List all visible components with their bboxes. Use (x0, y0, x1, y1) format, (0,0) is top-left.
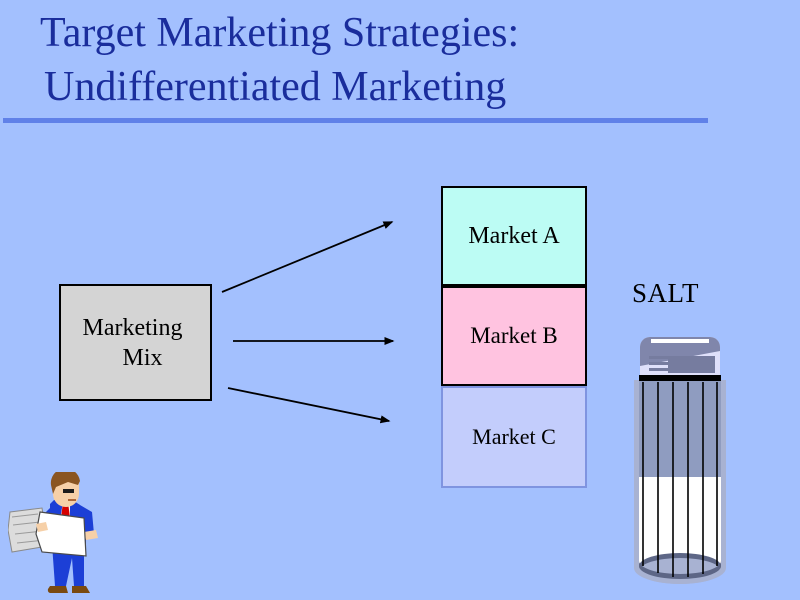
market-box-b: Market B (441, 286, 587, 386)
man-left-shoe (48, 586, 68, 593)
salt-shaker-icon (620, 325, 740, 590)
title-line-1: Target Marketing Strategies: (40, 6, 740, 60)
title-line-2: Undifferentiated Marketing (40, 60, 740, 114)
marketing-mix-box: Marketing Mix (59, 284, 212, 401)
marketing-mix-label-line-2: Mix (108, 343, 162, 373)
market-b-label: Market B (470, 323, 558, 349)
man-glasses (63, 489, 74, 493)
market-a-label: Market A (468, 223, 559, 250)
shaker-cap-stripes (649, 356, 715, 373)
shaker-cap-highlight (651, 339, 709, 343)
man-mouth (68, 499, 76, 501)
arrow-to-market-a (222, 222, 392, 292)
marketing-mix-label-line-1: Marketing (83, 313, 189, 343)
man-reading-newspaper-icon (8, 472, 113, 600)
title-divider-rule (3, 118, 708, 123)
newspaper-front-sheet (36, 512, 86, 556)
shaker-cap-band (639, 375, 721, 381)
slide-canvas: Target Marketing Strategies: Undifferent… (0, 0, 800, 600)
market-box-a: Market A (441, 186, 587, 286)
arrow-to-market-c (228, 388, 389, 421)
man-right-shoe (72, 586, 90, 593)
market-c-label: Market C (472, 424, 556, 450)
page-title: Target Marketing Strategies: Undifferent… (40, 6, 740, 114)
salt-label: SALT (632, 278, 699, 309)
market-box-c: Market C (441, 386, 587, 488)
